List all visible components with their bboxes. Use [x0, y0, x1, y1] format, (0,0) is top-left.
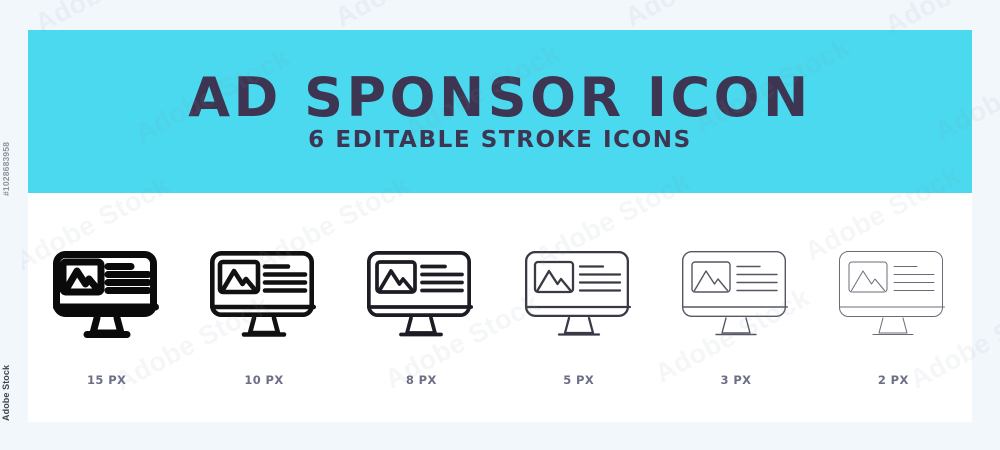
icon-variant-4[interactable]: 5 PX	[504, 249, 654, 387]
icon-variant-5[interactable]: 3 PX	[661, 249, 811, 387]
brand-label: Adobe Stock	[1, 365, 11, 421]
icon-gallery: 15 PX10 PX8 PX5 PX3 PX2 PX	[28, 193, 972, 422]
icon-variant-6[interactable]: 2 PX	[818, 249, 968, 387]
icon-variant-2[interactable]: 10 PX	[189, 249, 339, 387]
icon-size-label: 15 PX	[87, 373, 126, 387]
page-title: AD SPONSOR ICON	[188, 71, 811, 125]
page-subtitle: 6 EDITABLE STROKE ICONS	[308, 129, 692, 152]
left-rail: #1028683958 Adobe Stock	[0, 0, 22, 450]
ad-sponsor-monitor-icon	[523, 249, 635, 341]
watermark-text: Adobe Stock	[620, 0, 785, 33]
ad-sponsor-monitor-icon	[51, 249, 163, 341]
icon-variant-1[interactable]: 15 PX	[32, 249, 182, 387]
ad-sponsor-monitor-icon	[365, 249, 477, 341]
icon-size-label: 3 PX	[721, 373, 752, 387]
watermark-text: Adobe Stock	[330, 0, 495, 33]
ad-sponsor-monitor-icon	[208, 249, 320, 341]
icon-size-label: 5 PX	[563, 373, 594, 387]
icon-size-label: 2 PX	[878, 373, 909, 387]
image-id-label: #1028683958	[1, 180, 11, 196]
icon-variant-3[interactable]: 8 PX	[346, 249, 496, 387]
icon-size-label: 10 PX	[244, 373, 283, 387]
content-card: AD SPONSOR ICON 6 EDITABLE STROKE ICONS …	[28, 30, 972, 422]
ad-sponsor-monitor-icon	[837, 249, 949, 341]
header-banner: AD SPONSOR ICON 6 EDITABLE STROKE ICONS	[28, 30, 972, 193]
icon-size-label: 8 PX	[406, 373, 437, 387]
ad-sponsor-monitor-icon	[680, 249, 792, 341]
